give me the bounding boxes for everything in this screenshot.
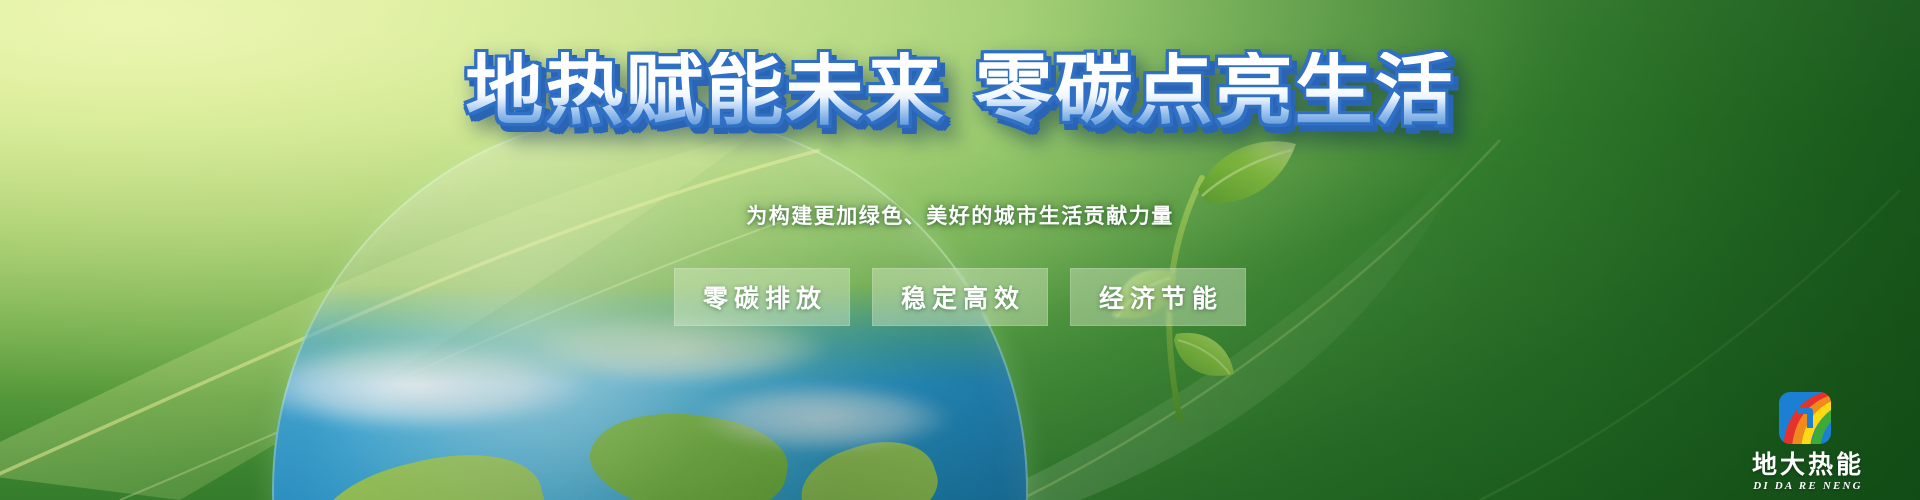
feature-badge-list: 零碳排放 稳定高效 经济节能 — [0, 268, 1920, 326]
logo-name-en: DI DA RE NENG — [1753, 480, 1863, 492]
feature-badge-zero-carbon[interactable]: 零碳排放 — [674, 268, 850, 326]
promo-banner: 地热赋能未来 零碳点亮生活 为构建更加绿色、美好的城市生活贡献力量 零碳排放 稳… — [0, 0, 1920, 500]
feature-badge-stable-efficient[interactable]: 稳定高效 — [872, 268, 1048, 326]
banner-subtitle: 为构建更加绿色、美好的城市生活贡献力量 — [0, 200, 1920, 230]
logo-name-cn: 地大热能 — [1752, 452, 1864, 478]
banner-title: 地热赋能未来 零碳点亮生活 — [0, 52, 1920, 130]
feature-badge-economical[interactable]: 经济节能 — [1070, 268, 1246, 326]
company-logo[interactable]: 地大热能 DI DA RE NENG — [1722, 390, 1894, 492]
logo-mark-icon — [1771, 390, 1845, 450]
